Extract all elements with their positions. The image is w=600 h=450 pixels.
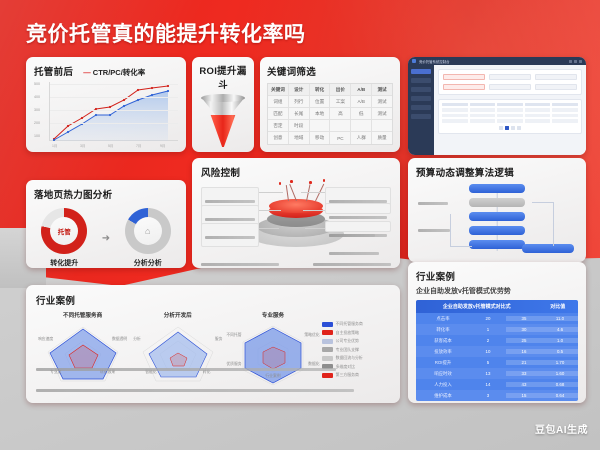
- card-budget-algorithm: 预算动态调整算法逻辑: [408, 158, 586, 262]
- compare-cell-lift: 4.6: [542, 327, 578, 332]
- card-roi-funnel: ROI提升漏斗 优化策略: [192, 57, 254, 152]
- table-cell: [470, 119, 496, 122]
- funnel-title: ROI提升漏斗: [197, 63, 249, 91]
- keyword-table-row: 创意 地域 移动 PC 人群 质量: [268, 132, 392, 144]
- line-chart-header: 托管前后 — CTR/PC/转化率: [34, 64, 178, 78]
- table-header-row: [442, 103, 578, 106]
- radar-1-axis-label: 响应速度: [38, 337, 53, 342]
- sidebar-item-campaigns[interactable]: [411, 78, 431, 83]
- budget-flowchart: [416, 184, 578, 256]
- legend-dash: —: [83, 68, 91, 77]
- donut-left-label: 转化提升: [41, 258, 87, 268]
- table-cell: [497, 114, 523, 117]
- compare-cell-managed: 15: [506, 393, 542, 398]
- keyword-cell: [372, 120, 392, 131]
- line-chart-svg: [50, 82, 178, 141]
- dashboard-body: [408, 65, 586, 155]
- watermark: 豆包AI生成: [535, 421, 588, 436]
- legend-item: 不同托管服务商: [322, 321, 390, 327]
- compare-row: 维护成本 3 15 0.64: [416, 390, 578, 401]
- card-line-chart: 托管前后 — CTR/PC/转化率 500 400 300 200 100: [26, 57, 186, 152]
- filter-field-status[interactable]: [535, 74, 577, 80]
- compare-row: 人力投入 14 43 0.68: [416, 379, 578, 390]
- pagination[interactable]: [442, 126, 578, 130]
- compare-cell-self: 2: [470, 338, 506, 343]
- sidebar-item-keywords[interactable]: [411, 87, 431, 92]
- card-risk-control: 风险控制: [192, 158, 400, 268]
- plot-box: 1月 3月 5月 7月 9月: [49, 82, 178, 141]
- risk-label-text: [205, 200, 255, 203]
- keyword-cell: 人群: [351, 132, 372, 144]
- table-cell: [470, 114, 496, 117]
- compare-cell-managed: 25: [506, 338, 542, 343]
- compare-cell-managed: 35: [506, 316, 542, 321]
- radar-1-title: 不同托管服务商: [36, 311, 129, 319]
- keyword-cell: 移动: [310, 132, 331, 144]
- legend-label: 不同托管服务商: [336, 321, 363, 327]
- compare-cell-lift: 0.64: [542, 393, 578, 398]
- sidebar-item-reports[interactable]: [411, 96, 431, 101]
- line-chart-legend: — CTR/PC/转化率: [83, 67, 145, 78]
- legend-label: CTR/PC/转化率: [93, 68, 146, 77]
- compare-table: 企业自助发放v托管模式对比式 对比值 点击率 20 35 11.0 转化率 1 …: [416, 300, 578, 401]
- risk-label-right-3: [325, 221, 391, 232]
- table-header-cell: [525, 103, 551, 106]
- y-axis: 500 400 300 200 100: [34, 82, 48, 150]
- keyword-table-row: 匹配 长尾 本地 高 低 测试: [268, 108, 392, 120]
- flow-node-1: [469, 184, 525, 193]
- dashboard-window-title: 竞价托管系统控制台: [419, 59, 450, 64]
- table-row[interactable]: [442, 108, 578, 111]
- risk-diagram: [201, 181, 391, 259]
- table-cell: [497, 119, 523, 122]
- table-header-cell: [470, 103, 496, 106]
- keyword-header-cell: 转化: [310, 84, 331, 95]
- heatmap-title: 落地页热力图分析: [34, 187, 178, 201]
- table-cell: [525, 108, 551, 111]
- risk-footnote-left: [201, 263, 279, 266]
- legend-label: 专业团队支撑: [336, 347, 359, 353]
- compare-cell-self: 1: [470, 327, 506, 332]
- card-keyword-filter: 关键词筛选 关键词 设计 转化 出价 A/B 测试 词组 列行 位置 工案 A/…: [260, 57, 400, 152]
- donut-ring-red: 托管: [41, 208, 87, 254]
- sidebar-item-budget[interactable]: [411, 105, 431, 110]
- risk-label-left-3: [201, 223, 259, 247]
- compare-row: 投放效率 10 16 0.5: [416, 346, 578, 357]
- table-cell: [442, 108, 468, 111]
- radar-2-title: 分析开发后: [131, 311, 224, 319]
- compare-cell-self: 13: [470, 371, 506, 376]
- keyword-cell: 工案: [330, 96, 351, 107]
- page-prev[interactable]: [499, 126, 503, 130]
- keyword-title: 关键词筛选: [267, 64, 393, 78]
- compare-cell-metric: 人力投入: [416, 382, 470, 388]
- table-cell: [525, 114, 551, 117]
- keyword-cell: 否定: [268, 120, 289, 131]
- table-cell: [497, 108, 523, 111]
- funnel-icon: [200, 97, 246, 149]
- legend-swatch: [322, 330, 333, 335]
- keyword-table: 关键词 设计 转化 出价 A/B 测试 词组 列行 位置 工案 A/B 测试 匹…: [267, 83, 393, 145]
- compare-row: 点击率 20 35 11.0: [416, 313, 578, 324]
- keyword-header-cell: A/B: [351, 84, 372, 95]
- app-logo-icon: [412, 59, 416, 63]
- keyword-cell: 地域: [289, 132, 310, 144]
- filter-field-account[interactable]: [443, 74, 485, 80]
- donut-right-label: 分析分析: [125, 258, 171, 268]
- flow-node-2: [469, 198, 525, 207]
- compare-cell-metric: ROI提升: [416, 360, 470, 366]
- filter-field-date[interactable]: [489, 74, 531, 80]
- minimize-icon[interactable]: [569, 60, 572, 63]
- donut-ring-grey: ⌂: [125, 208, 171, 254]
- donut-left-value: 托管: [41, 208, 87, 254]
- compare-cell-managed: 16: [506, 349, 542, 354]
- legend-item: 专业团队支撑: [322, 347, 390, 353]
- keyword-cell: 低: [351, 108, 372, 119]
- keyword-cell: 高: [330, 108, 351, 119]
- compare-cell-metric: 点击率: [416, 316, 470, 322]
- donut-right: ⌂ 分析分析: [125, 208, 171, 268]
- close-icon[interactable]: [579, 60, 582, 63]
- legend-swatch: [322, 322, 333, 327]
- radar-3-axis-label: 策略优化: [304, 333, 319, 338]
- compare-header-main: 企业自助发放v托管模式对比式: [416, 303, 538, 310]
- dashboard-titlebar: 竞价托管系统控制台: [408, 57, 586, 65]
- compare-row: 转化率 1 30 4.6: [416, 324, 578, 335]
- radar-footnote: [36, 358, 390, 397]
- keyword-table-header: 关键词 设计 转化 出价 A/B 测试: [268, 84, 392, 96]
- keyword-cell: 测试: [372, 96, 392, 107]
- keyword-table-row: 否定 时段: [268, 120, 392, 132]
- risk-label-right-2: [325, 203, 391, 214]
- risk-node-dot: [309, 181, 312, 184]
- footnote-line-1: [36, 368, 336, 371]
- compare-cell-metric: 响应时效: [416, 371, 470, 377]
- table-header-cell: [552, 103, 578, 106]
- legend-item: 自主投放策略: [322, 330, 390, 336]
- risk-title: 风险控制: [201, 165, 391, 179]
- compare-row: ROI提升 5 21 1.70: [416, 357, 578, 368]
- legend-swatch: [322, 339, 333, 344]
- keyword-cell: A/B: [351, 96, 372, 107]
- compare-cell-lift: 0.5: [542, 349, 578, 354]
- budget-title: 预算动态调整算法逻辑: [416, 165, 578, 179]
- window-controls[interactable]: [569, 60, 582, 63]
- table-row[interactable]: [442, 114, 578, 117]
- table-cell: [552, 114, 578, 117]
- risk-node-dot: [279, 182, 282, 185]
- card-dashboard-mockup: 竞价托管系统控制台: [408, 57, 586, 155]
- keyword-header-cell: 出价: [330, 84, 351, 95]
- flow-node-5: [469, 240, 525, 249]
- radar-1-axis-label: 数据透明: [112, 337, 127, 342]
- compare-row: 响应时效 13 33 1.60: [416, 368, 578, 379]
- compare-cell-lift: 11.0: [542, 316, 578, 321]
- line-chart-plot: 500 400 300 200 100: [34, 82, 178, 150]
- keyword-cell: 质量: [372, 132, 392, 144]
- dashboard-sidebar[interactable]: [408, 65, 434, 155]
- keyword-cell: 匹配: [268, 108, 289, 119]
- compare-cell-managed: 30: [506, 327, 542, 332]
- filter-field-keyword[interactable]: [443, 84, 485, 90]
- table-cell: [442, 114, 468, 117]
- dashboard-filter-bar[interactable]: [438, 69, 582, 95]
- compare-cell-self: 20: [470, 316, 506, 321]
- radar-2-axis-label: 服务: [215, 337, 223, 342]
- card-industry-radar: 行业案例 不同托管服务商 响应速度 数据透明 转化效果 专业度 分析开发后: [26, 285, 400, 403]
- compare-cell-managed: 43: [506, 382, 542, 387]
- compare-row: 获客成本 2 25 1.0: [416, 335, 578, 346]
- sidebar-item-settings[interactable]: [411, 114, 431, 119]
- page-1[interactable]: [505, 126, 509, 130]
- keyword-cell: [330, 120, 351, 131]
- keyword-header-cell: 测试: [372, 84, 392, 95]
- funnel-rim: [201, 94, 245, 102]
- keyword-cell: 词组: [268, 96, 289, 107]
- table-cell: [470, 108, 496, 111]
- table-cell: [442, 119, 468, 122]
- table-cell: [552, 108, 578, 111]
- keyword-header-cell: 关键词: [268, 84, 289, 95]
- risk-footnote-right: [313, 263, 391, 266]
- card-compare-table: 行业案例 企业自助发放v托管模式优劳势 企业自助发放v托管模式对比式 对比值 点…: [408, 262, 586, 403]
- keyword-cell: 本地: [310, 108, 331, 119]
- keyword-cell: 时段: [289, 120, 310, 131]
- compare-cell-lift: 1.60: [542, 371, 578, 376]
- filter-field-device[interactable]: [489, 84, 531, 90]
- risk-node-dot: [290, 180, 293, 183]
- donut-right-value: ⌂: [125, 208, 171, 254]
- keyword-cell: 测试: [372, 108, 392, 119]
- keyword-cell: [351, 120, 372, 131]
- compare-cell-metric: 投放效率: [416, 349, 470, 355]
- funnel-red-stream: [201, 115, 245, 147]
- keyword-cell: [310, 120, 331, 131]
- compare-cell-metric: 获客成本: [416, 338, 470, 344]
- card-heatmap-analysis: 落地页热力图分析 托管 转化提升 ➜ ⌂ 分析分析: [26, 180, 186, 268]
- maximize-icon[interactable]: [574, 60, 577, 63]
- compare-header-sub: 对比值: [538, 303, 579, 310]
- donut-group: 托管 转化提升 ➜ ⌂ 分析分析: [34, 208, 178, 268]
- flow-node-3: [469, 212, 525, 221]
- keyword-cell: 创意: [268, 132, 289, 144]
- flow-node-4: [469, 226, 525, 235]
- dashboard-main: [434, 65, 586, 155]
- compare-cell-lift: 0.68: [542, 382, 578, 387]
- table-cell: [525, 119, 551, 122]
- table-header-cell: [442, 103, 468, 106]
- compare-cell-metric: 维护成本: [416, 393, 470, 399]
- page-title: 竞价托管真的能提升转化率吗: [26, 18, 306, 48]
- keyword-cell: PC: [330, 132, 351, 144]
- radar-2-axis-label: 分析: [133, 337, 141, 342]
- radar-card-title: 行业案例: [36, 293, 390, 307]
- compare-cell-metric: 转化率: [416, 327, 470, 333]
- line-chart-title: 托管前后: [34, 64, 73, 78]
- compare-cell-self: 5: [470, 360, 506, 365]
- risk-footnotes: [201, 263, 391, 266]
- compare-cell-lift: 1.70: [542, 360, 578, 365]
- compare-cell-self: 10: [470, 349, 506, 354]
- compare-kicker: 行业案例: [416, 269, 578, 283]
- keyword-cell: 位置: [310, 96, 331, 107]
- risk-label-text: [205, 218, 255, 221]
- risk-node-dot: [323, 179, 326, 182]
- poster-canvas: 竞价托管真的能提升转化率吗 托管前后 — CTR/PC/转化率 500 400 …: [0, 0, 600, 450]
- compare-cell-self: 3: [470, 393, 506, 398]
- compare-header-row: 企业自助发放v托管模式对比式 对比值: [416, 300, 578, 313]
- table-cell: [552, 119, 578, 122]
- keyword-header-cell: 设计: [289, 84, 310, 95]
- legend-swatch: [322, 347, 333, 352]
- flow-node-side: [522, 244, 574, 253]
- footnote-line-2: [36, 389, 354, 392]
- table-row[interactable]: [442, 119, 578, 122]
- compare-cell-managed: 21: [506, 360, 542, 365]
- keyword-table-row: 词组 列行 位置 工案 A/B 测试: [268, 96, 392, 108]
- flow-label-1: [418, 201, 448, 206]
- risk-label-text: [329, 234, 387, 237]
- radar-3-title: 专业服务: [226, 311, 319, 319]
- arrow-right-icon: ➜: [102, 233, 110, 244]
- keyword-cell: 长尾: [289, 108, 310, 119]
- legend-item: 公司专业优势: [322, 338, 390, 344]
- compare-title: 企业自助发放v托管模式优劳势: [416, 286, 578, 296]
- compare-cell-managed: 33: [506, 371, 542, 376]
- flow-label-2: [418, 228, 450, 233]
- table-header-cell: [497, 103, 523, 106]
- risk-label-text: [329, 216, 387, 219]
- legend-label: 自主投放策略: [336, 330, 359, 336]
- page-2[interactable]: [511, 126, 515, 130]
- risk-label-text: [205, 236, 255, 239]
- legend-label: 公司专业优势: [336, 338, 359, 344]
- keyword-cell: 列行: [289, 96, 310, 107]
- risk-label-text: [329, 252, 379, 255]
- donut-left: 托管 转化提升: [41, 208, 87, 268]
- dashboard-data-table: [438, 99, 582, 134]
- filter-field-region[interactable]: [535, 84, 577, 90]
- compare-cell-lift: 1.0: [542, 338, 578, 343]
- compare-cell-self: 14: [470, 382, 506, 387]
- radar-3-axis-label: 不同托管: [226, 333, 241, 338]
- sidebar-item-overview[interactable]: [411, 69, 431, 74]
- page-next[interactable]: [517, 126, 521, 130]
